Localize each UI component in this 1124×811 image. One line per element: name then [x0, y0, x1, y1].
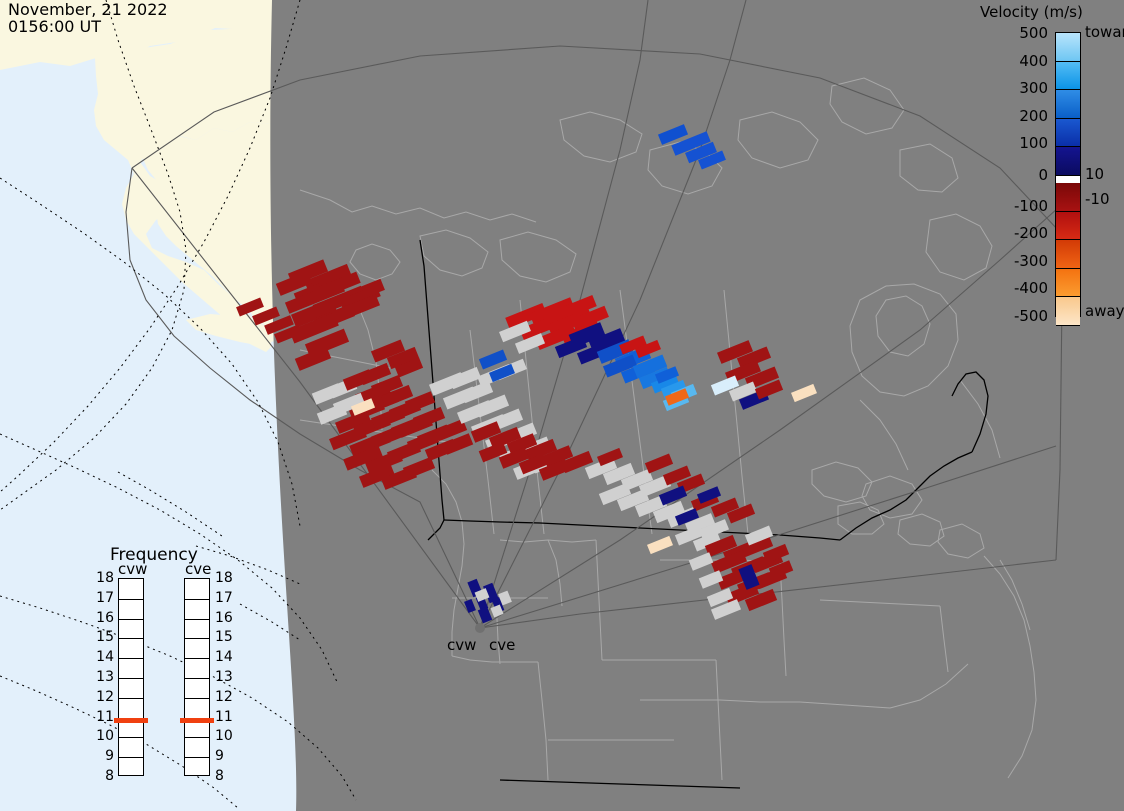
frequency-tick-label-right: 12 [215, 689, 233, 705]
velocity-colorbar-title: Velocity (m/s) [980, 3, 1083, 21]
velocity-color-band [1056, 176, 1080, 183]
frequency-gridline [119, 678, 143, 679]
frequency-tick-label-left: 9 [105, 748, 114, 764]
frequency-tick-label-right: 15 [215, 629, 233, 645]
velocity-color-band [1056, 297, 1080, 326]
frequency-tick-label-right: 13 [215, 669, 233, 685]
frequency-column-cve [184, 578, 210, 776]
radar-map-stage: November, 21 2022 0156:00 UT Velocity (m… [0, 0, 1124, 811]
timestamp-overlay: November, 21 2022 0156:00 UT [8, 1, 168, 35]
frequency-gridline [185, 619, 209, 620]
velocity-tick-label: 300 [1019, 79, 1048, 97]
velocity-tick-label: 400 [1019, 52, 1048, 70]
frequency-tick-label-left: 16 [96, 610, 114, 626]
frequency-marker-cvw [114, 718, 148, 723]
frequency-gridline [185, 737, 209, 738]
frequency-tick-label-right: 14 [215, 649, 233, 665]
radar-origin-dot [475, 623, 485, 633]
frequency-column-label-cve: cve [185, 560, 211, 578]
velocity-tick-label: -100 [1014, 197, 1048, 215]
frequency-gridline [119, 757, 143, 758]
velocity-color-band [1056, 212, 1080, 241]
frequency-gridline [185, 698, 209, 699]
frequency-gridline [185, 638, 209, 639]
velocity-tick-label: -400 [1014, 279, 1048, 297]
frequency-tick-label-right: 18 [215, 570, 233, 586]
frequency-tick-label-left: 12 [96, 689, 114, 705]
frequency-tick-label-left: 17 [96, 590, 114, 606]
velocity-tick-label: -200 [1014, 224, 1048, 242]
velocity-tick-label: 0 [1038, 166, 1048, 184]
velocity-toward-label: toward [1085, 23, 1124, 41]
timestamp-time: 0156:00 UT [8, 17, 101, 36]
velocity-color-band [1056, 119, 1080, 148]
velocity-positive-threshold-label: 10 [1085, 165, 1104, 183]
frequency-gridline [119, 698, 143, 699]
velocity-tick-label: 500 [1019, 24, 1048, 42]
frequency-tick-label-right: 17 [215, 590, 233, 606]
frequency-tick-label-right: 11 [215, 709, 233, 725]
radar-site-label-cvw: cvw [447, 636, 476, 654]
frequency-tick-label-left: 18 [96, 570, 114, 586]
frequency-gridline [185, 599, 209, 600]
velocity-color-band [1056, 269, 1080, 298]
frequency-column-label-cvw: cvw [118, 560, 147, 578]
velocity-colorbar: Velocity (m/s) 5004003002001000-100-200-… [975, 0, 1124, 330]
velocity-color-band [1056, 147, 1080, 176]
frequency-tick-label-left: 11 [96, 709, 114, 725]
frequency-tick-label-left: 10 [96, 728, 114, 744]
velocity-tick-label: 100 [1019, 134, 1048, 152]
radar-site-label-cve: cve [489, 636, 515, 654]
velocity-color-band [1056, 240, 1080, 269]
frequency-gridline [119, 638, 143, 639]
velocity-negative-threshold-label: -10 [1085, 190, 1110, 208]
frequency-gridline [185, 678, 209, 679]
velocity-color-band [1056, 90, 1080, 119]
velocity-away-label: away [1085, 302, 1124, 320]
frequency-tick-label-right: 9 [215, 748, 224, 764]
frequency-gridline [185, 658, 209, 659]
frequency-gridline [119, 619, 143, 620]
frequency-marker-cve [180, 718, 214, 723]
frequency-tick-label-left: 14 [96, 649, 114, 665]
frequency-gridline [185, 757, 209, 758]
frequency-column-cvw [118, 578, 144, 776]
velocity-tick-label: -500 [1014, 307, 1048, 325]
frequency-tick-label-left: 8 [105, 768, 114, 784]
frequency-tick-label-left: 13 [96, 669, 114, 685]
velocity-tick-label: -300 [1014, 252, 1048, 270]
frequency-gridline [119, 658, 143, 659]
frequency-legend: Frequency cvw cve 1818171716161515141413… [95, 545, 245, 790]
frequency-tick-label-right: 8 [215, 768, 224, 784]
frequency-tick-label-right: 10 [215, 728, 233, 744]
frequency-gridline [119, 737, 143, 738]
frequency-gridline [119, 599, 143, 600]
velocity-tick-label: 200 [1019, 107, 1048, 125]
velocity-color-band [1056, 33, 1080, 62]
frequency-tick-label-right: 16 [215, 610, 233, 626]
velocity-colorbar-gradient [1055, 32, 1081, 317]
frequency-tick-label-left: 15 [96, 629, 114, 645]
velocity-color-band [1056, 62, 1080, 91]
velocity-color-band [1056, 183, 1080, 212]
